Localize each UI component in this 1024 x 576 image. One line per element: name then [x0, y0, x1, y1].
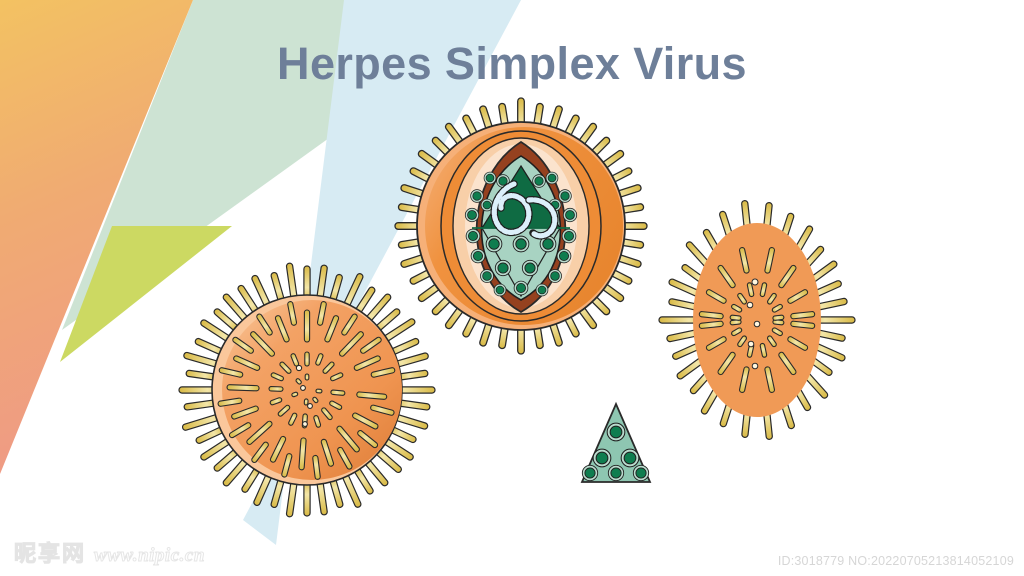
virus-sphere-left [179, 263, 435, 517]
site-watermark: 昵享网 www.nipic.cn [14, 544, 205, 566]
watermark-brand-url: www.nipic.cn [94, 546, 205, 565]
watermark-brand-cjk: 昵享网 [14, 544, 86, 566]
illustration-canvas: Herpes Simplex Virus 昵享网 www.nipic.cn ID… [0, 0, 1024, 576]
watermark-id-text: ID:3018779 NO:20220705213814052109 [778, 554, 1014, 568]
virus-oval-right-body [693, 223, 821, 417]
capsid-triangle-detail [582, 404, 650, 482]
page-title: Herpes Simplex Virus [0, 38, 1024, 90]
virus-cross-section [395, 98, 647, 354]
virus-oval-right [659, 200, 855, 439]
